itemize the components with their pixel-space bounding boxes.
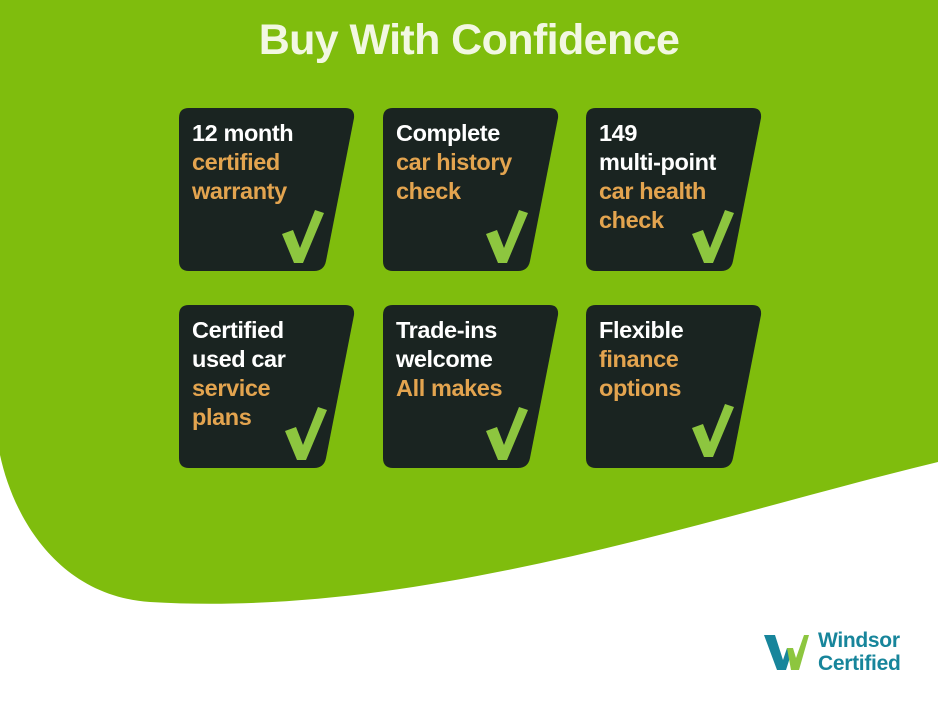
card-line: Certified bbox=[192, 316, 342, 345]
logo-line-2: Certified bbox=[818, 652, 900, 675]
checkmark-icon bbox=[689, 402, 737, 460]
page-title: Buy With Confidence bbox=[0, 16, 938, 65]
windsor-certified-logo[interactable]: Windsor Certified bbox=[762, 629, 900, 675]
windsor-w-icon bbox=[762, 632, 810, 672]
feature-cards-grid: 12 month certified warranty Complete car… bbox=[179, 108, 759, 502]
feature-card-trade-ins-welcome-all-makes[interactable]: Trade-ins welcome All makes bbox=[383, 305, 559, 468]
card-text: Flexible finance options bbox=[599, 316, 749, 403]
card-line: multi-point bbox=[599, 148, 749, 177]
feature-cards-row-1: 12 month certified warranty Complete car… bbox=[179, 108, 759, 305]
card-line: Complete bbox=[396, 119, 546, 148]
checkmark-icon bbox=[689, 208, 737, 266]
card-text: Complete car history check bbox=[396, 119, 546, 206]
card-line: options bbox=[599, 374, 749, 403]
logo-line-1: Windsor bbox=[818, 629, 900, 652]
card-line: car health bbox=[599, 177, 749, 206]
feature-cards-row-2: Certified used car service plans Trade-i… bbox=[179, 305, 759, 502]
checkmark-icon bbox=[483, 208, 531, 266]
card-text: Trade-ins welcome All makes bbox=[396, 316, 546, 403]
feature-card-12-month-certified-warranty[interactable]: 12 month certified warranty bbox=[179, 108, 355, 271]
feature-card-complete-car-history-check[interactable]: Complete car history check bbox=[383, 108, 559, 271]
checkmark-icon bbox=[279, 208, 327, 266]
card-line: welcome bbox=[396, 345, 546, 374]
card-line: Trade-ins bbox=[396, 316, 546, 345]
feature-card-certified-used-car-service-plans[interactable]: Certified used car service plans bbox=[179, 305, 355, 468]
card-line: 12 month bbox=[192, 119, 342, 148]
card-line: warranty bbox=[192, 177, 342, 206]
card-line: Flexible bbox=[599, 316, 749, 345]
card-line: 149 bbox=[599, 119, 749, 148]
card-text: 12 month certified warranty bbox=[192, 119, 342, 206]
card-line: service bbox=[192, 374, 342, 403]
feature-card-149-multi-point-car-health-check[interactable]: 149 multi-point car health check bbox=[586, 108, 762, 271]
logo-wordmark: Windsor Certified bbox=[818, 629, 900, 675]
card-line: All makes bbox=[396, 374, 546, 403]
card-line: certified bbox=[192, 148, 342, 177]
card-line: car history bbox=[396, 148, 546, 177]
card-line: check bbox=[396, 177, 546, 206]
checkmark-icon bbox=[282, 405, 330, 463]
card-line: used car bbox=[192, 345, 342, 374]
feature-card-flexible-finance-options[interactable]: Flexible finance options bbox=[586, 305, 762, 468]
card-line: finance bbox=[599, 345, 749, 374]
checkmark-icon bbox=[483, 405, 531, 463]
